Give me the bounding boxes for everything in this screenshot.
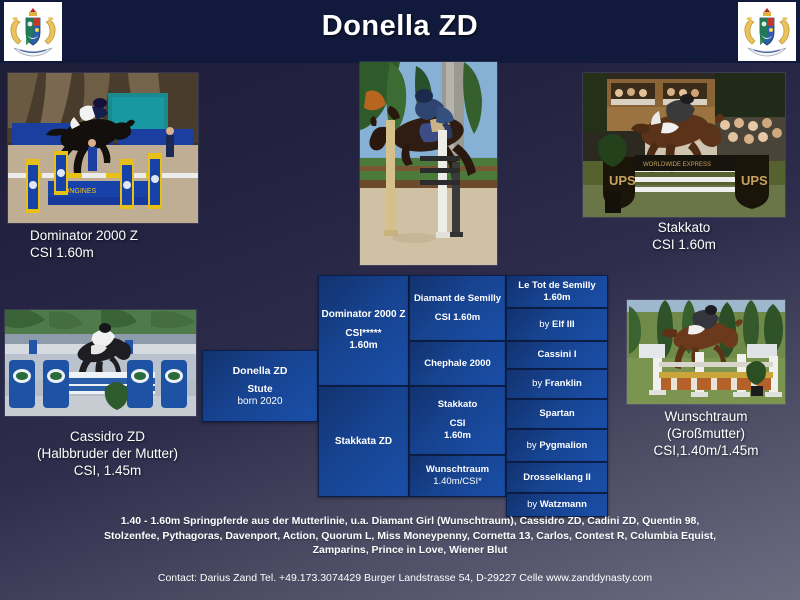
- svg-text:WORLDWIDE EXPRESS: WORLDWIDE EXPRESS: [643, 162, 711, 168]
- pedigree-cell-franklin: by Franklin: [506, 369, 608, 399]
- pedigree-sire-sire-name: Diamant de Semilly: [414, 293, 501, 305]
- pedigree-gen3-7-prefix: by: [527, 499, 540, 510]
- pedigree-sire-line2: 1.60m: [349, 340, 377, 352]
- pedigree-dam-sire-line2: 1.60m: [444, 430, 471, 442]
- svg-text:UPS: UPS: [609, 173, 636, 188]
- pedigree-sire-dam-name: Chephale 2000: [424, 358, 491, 370]
- photo-stakkato: WORLDWIDE EXPRESS UPS UPS: [583, 73, 785, 217]
- pedigree-gen3-5-name: Pygmalion: [539, 440, 587, 451]
- pedigree-sire-line1: CSI*****: [345, 328, 381, 340]
- caption-dominator-2000-z: Dominator 2000 Z CSI 1.60m: [30, 227, 138, 261]
- pedigree-cell-pygmalion: by Pygmalion: [506, 429, 608, 462]
- caption-wunschtraum: Wunschtraum (Großmutter) CSI,1.40m/1.45m: [627, 408, 785, 459]
- svg-text:UPS: UPS: [741, 173, 768, 188]
- pedigree-gen3-5-prefix: by: [527, 440, 540, 451]
- pedigree-gen3-3-name: Franklin: [545, 378, 582, 389]
- pedigree-cell-dam: Stakkata ZD: [318, 386, 409, 497]
- pedigree-gen3-7-line: by Watzmann: [527, 499, 587, 511]
- photo-wunschtraum: [627, 300, 785, 404]
- photo-diamant-de-semilly: [360, 62, 497, 265]
- pedigree-subject-born: born 2020: [237, 396, 282, 408]
- pedigree-dam-sire-line1: CSI: [450, 418, 466, 430]
- slide-canvas: Donella ZD: [0, 0, 800, 600]
- caption-cassidro-zd: Cassidro ZD (Halbbruder der Mutter) CSI,…: [0, 428, 215, 479]
- pedigree-gen3-1-name: Elf III: [552, 319, 575, 330]
- pedigree-cell-donella-zd: Donella ZD Stute born 2020: [202, 350, 318, 422]
- pedigree-gen3-0-name: Le Tot de Semilly: [518, 280, 595, 292]
- pedigree-gen3-3-prefix: by: [532, 378, 545, 389]
- pedigree-dam-sire-name: Stakkato: [438, 399, 478, 411]
- pedigree-cell-sire: Dominator 2000 Z CSI***** 1.60m: [318, 275, 409, 386]
- pedigree-gen3-4-name: Spartan: [539, 408, 574, 420]
- pedigree-gen3-1-line: by Elf III: [539, 319, 574, 331]
- pedigree-gen3-6-name: Drosselklang II: [523, 472, 591, 484]
- pedigree-gen3-3-line: by Franklin: [532, 378, 582, 390]
- pedigree-cell-le-tot-de-semilly: Le Tot de Semilly 1.60m: [506, 275, 608, 308]
- pedigree-dam-name: Stakkata ZD: [335, 436, 392, 448]
- pedigree-gen3-5-line: by Pygmalion: [527, 440, 588, 452]
- pedigree-sire-sire-line1: CSI 1.60m: [435, 312, 480, 324]
- page-title: Donella ZD: [0, 10, 800, 43]
- pedigree-cell-sire-sire: Diamant de Semilly CSI 1.60m: [409, 275, 506, 341]
- photo-cassidro-zd: [5, 310, 196, 416]
- footer-contact-line: Contact: Darius Zand Tel. +49.173.307442…: [60, 571, 750, 585]
- pedigree-gen3-2-name: Cassini I: [537, 349, 576, 361]
- pedigree-gen3-1-prefix: by: [539, 319, 552, 330]
- pedigree-cell-cassini-i: Cassini I: [506, 341, 608, 369]
- photo-dominator-2000-z: LONGINES: [8, 73, 198, 223]
- pedigree-cell-dam-sire: Stakkato CSI 1.60m: [409, 386, 506, 455]
- pedigree-subject-name: Donella ZD: [233, 365, 288, 377]
- pedigree-gen3-7-name: Watzmann: [540, 499, 587, 510]
- pedigree-cell-drosselklang-ii: Drosselklang II: [506, 462, 608, 493]
- pedigree-subject-sex: Stute: [248, 384, 273, 396]
- pedigree-dam-dam-line1: 1.40m/CSI*: [433, 476, 482, 488]
- pedigree-cell-spartan: Spartan: [506, 399, 608, 429]
- pedigree-sire-name: Dominator 2000 Z: [322, 309, 406, 321]
- pedigree-dam-dam-name: Wunschtraum: [426, 464, 489, 476]
- pedigree-cell-elf-iii: by Elf III: [506, 308, 608, 341]
- pedigree-cell-dam-dam: Wunschtraum 1.40m/CSI*: [409, 455, 506, 497]
- pedigree-cell-sire-dam: Chephale 2000: [409, 341, 506, 386]
- caption-stakkato: Stakkato CSI 1.60m: [583, 219, 785, 253]
- pedigree-gen3-0-line1: 1.60m: [544, 292, 571, 304]
- footer-bloodline-note: 1.40 - 1.60m Springpferde aus der Mutter…: [100, 514, 720, 558]
